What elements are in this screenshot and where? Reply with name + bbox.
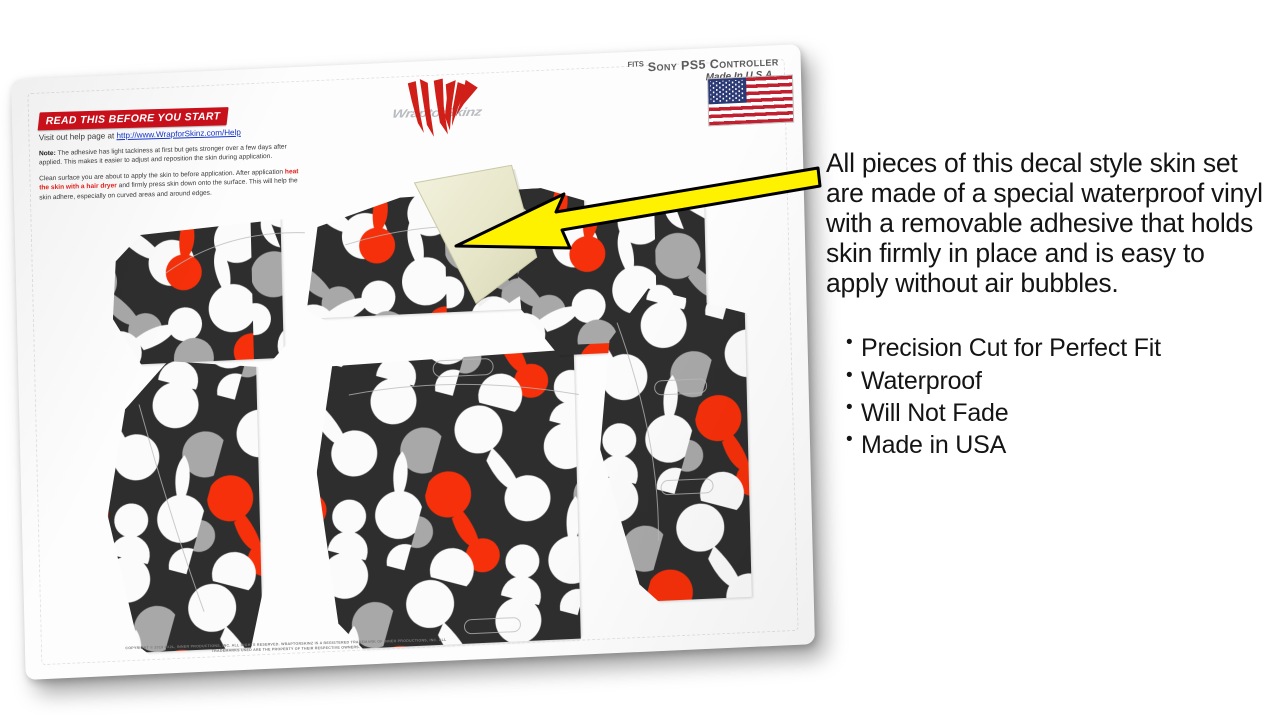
pattern-fill: [314, 347, 581, 652]
feature-bullet: Will Not Fade: [846, 397, 1272, 429]
usa-flag: [707, 74, 794, 126]
feature-bullet-list: Precision Cut for Perfect Fit Waterproof…: [826, 332, 1272, 461]
arrow-graphic: [452, 150, 824, 260]
yellow-pointer-arrow: [452, 150, 824, 260]
help-page-link[interactable]: http://www.WrapforSkinz.com/Help: [116, 128, 240, 140]
note-label: Note:: [39, 150, 56, 157]
flag-stars: [710, 80, 744, 102]
read-this-banner-label: READ THIS BEFORE YOU START: [46, 109, 221, 126]
wraptorskinz-logo: WraptorSkinz: [342, 76, 532, 143]
fits-prefix: FITS: [627, 59, 643, 69]
marketing-copy: All pieces of this decal style skin set …: [826, 148, 1272, 461]
instructions-block: READ THIS BEFORE YOU START Visit out hel…: [39, 103, 307, 202]
help-page-prefix: Visit out help page at: [39, 131, 117, 142]
flag-canton: [708, 78, 747, 105]
read-this-banner: READ THIS BEFORE YOU START: [38, 107, 229, 130]
note-paragraph: Note: The adhesive has light tackiness a…: [39, 142, 307, 168]
feature-bullet: Precision Cut for Perfect Fit: [846, 332, 1272, 364]
decal-backing-sheet: READ THIS BEFORE YOU START Visit out hel…: [11, 44, 815, 680]
pattern-fill: [111, 216, 284, 367]
decal-piece-left-grip: [96, 355, 304, 680]
screenshot-stage: READ THIS BEFORE YOU START Visit out hel…: [0, 0, 1280, 715]
note-text: The adhesive has light tackiness at firs…: [39, 144, 287, 167]
decal-piece-center-front: [314, 347, 622, 680]
pattern-fill: [96, 355, 263, 656]
wraptor-w-mark: [394, 77, 486, 141]
marketing-blurb: All pieces of this decal style skin set …: [826, 148, 1272, 298]
feature-bullet: Made in USA: [846, 429, 1272, 461]
clean-surface-paragraph: Clean surface you are about to apply the…: [39, 167, 307, 203]
arrow-shape: [456, 168, 820, 248]
decal-sheet-wrapper: READ THIS BEFORE YOU START Visit out hel…: [11, 44, 815, 680]
feature-bullet: Waterproof: [846, 365, 1272, 397]
